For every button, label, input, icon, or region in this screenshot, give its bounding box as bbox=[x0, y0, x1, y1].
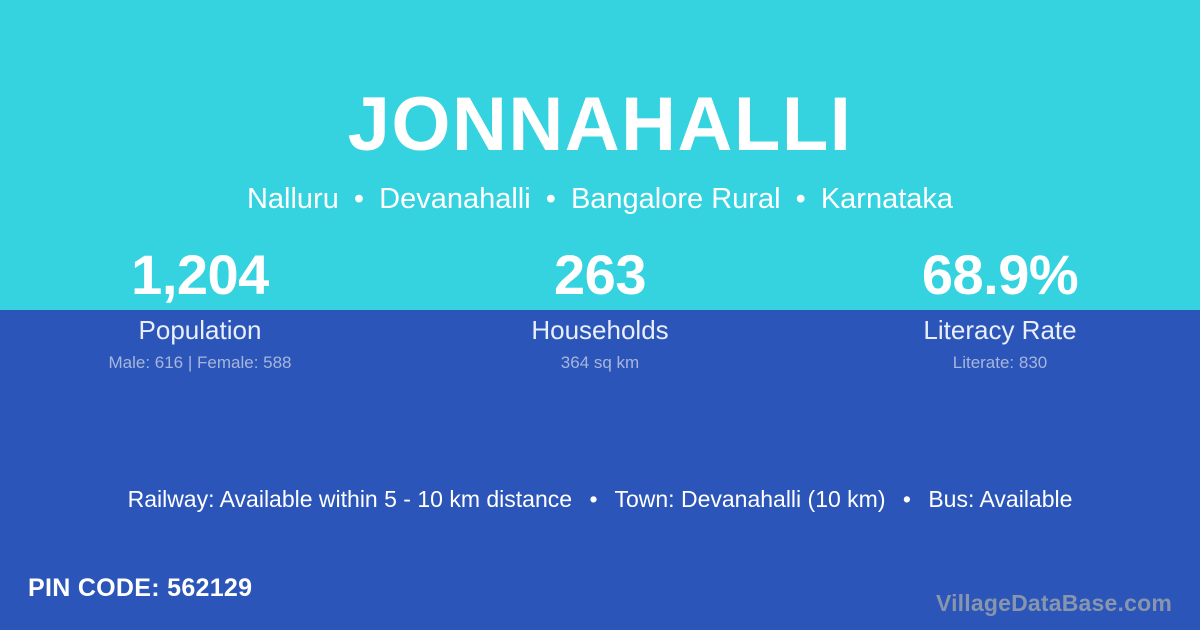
stat-sublabel: Literate: 830 bbox=[800, 352, 1200, 374]
stat-population: 1,204 Population Male: 616 | Female: 588 bbox=[0, 240, 400, 390]
amenity-town: Town: Devanahalli (10 km) bbox=[614, 486, 885, 512]
breadcrumb-separator: • bbox=[347, 183, 371, 215]
breadcrumb-separator: • bbox=[789, 183, 813, 215]
breadcrumb-item-state: Karnataka bbox=[821, 183, 953, 215]
amenity-railway: Railway: Available within 5 - 10 km dist… bbox=[128, 486, 572, 512]
stat-value: 263 bbox=[400, 240, 800, 310]
stat-label: Households bbox=[400, 314, 800, 346]
pin-code: PIN CODE: 562129 bbox=[28, 572, 252, 604]
footer: PIN CODE: 562129 VillageDataBase.com bbox=[0, 566, 1200, 630]
amenity-separator: • bbox=[892, 486, 922, 512]
stat-label: Population bbox=[0, 314, 400, 346]
amenity-separator: • bbox=[578, 486, 608, 512]
breadcrumb-separator: • bbox=[539, 183, 563, 215]
stat-value: 68.9% bbox=[800, 240, 1200, 310]
site-watermark: VillageDataBase.com bbox=[936, 588, 1172, 618]
stat-sublabel: 364 sq km bbox=[400, 352, 800, 374]
breadcrumb-item-taluk: Devanahalli bbox=[379, 183, 531, 215]
breadcrumb-item-district: Bangalore Rural bbox=[571, 183, 781, 215]
stat-value: 1,204 bbox=[0, 240, 400, 310]
breadcrumb: Nalluru • Devanahalli • Bangalore Rural … bbox=[0, 180, 1200, 218]
amenities-line: Railway: Available within 5 - 10 km dist… bbox=[0, 483, 1200, 516]
stat-sublabel: Male: 616 | Female: 588 bbox=[0, 352, 400, 374]
stat-literacy-rate: 68.9% Literacy Rate Literate: 830 bbox=[800, 240, 1200, 390]
amenity-bus: Bus: Available bbox=[928, 486, 1072, 512]
page-title: JONNAHALLI bbox=[0, 76, 1200, 174]
stat-households: 263 Households 364 sq km bbox=[400, 240, 800, 390]
village-info-card: JONNAHALLI Nalluru • Devanahalli • Banga… bbox=[0, 0, 1200, 630]
stat-label: Literacy Rate bbox=[800, 314, 1200, 346]
stats-row: 1,204 Population Male: 616 | Female: 588… bbox=[0, 240, 1200, 390]
breadcrumb-item-panchayat: Nalluru bbox=[247, 183, 339, 215]
